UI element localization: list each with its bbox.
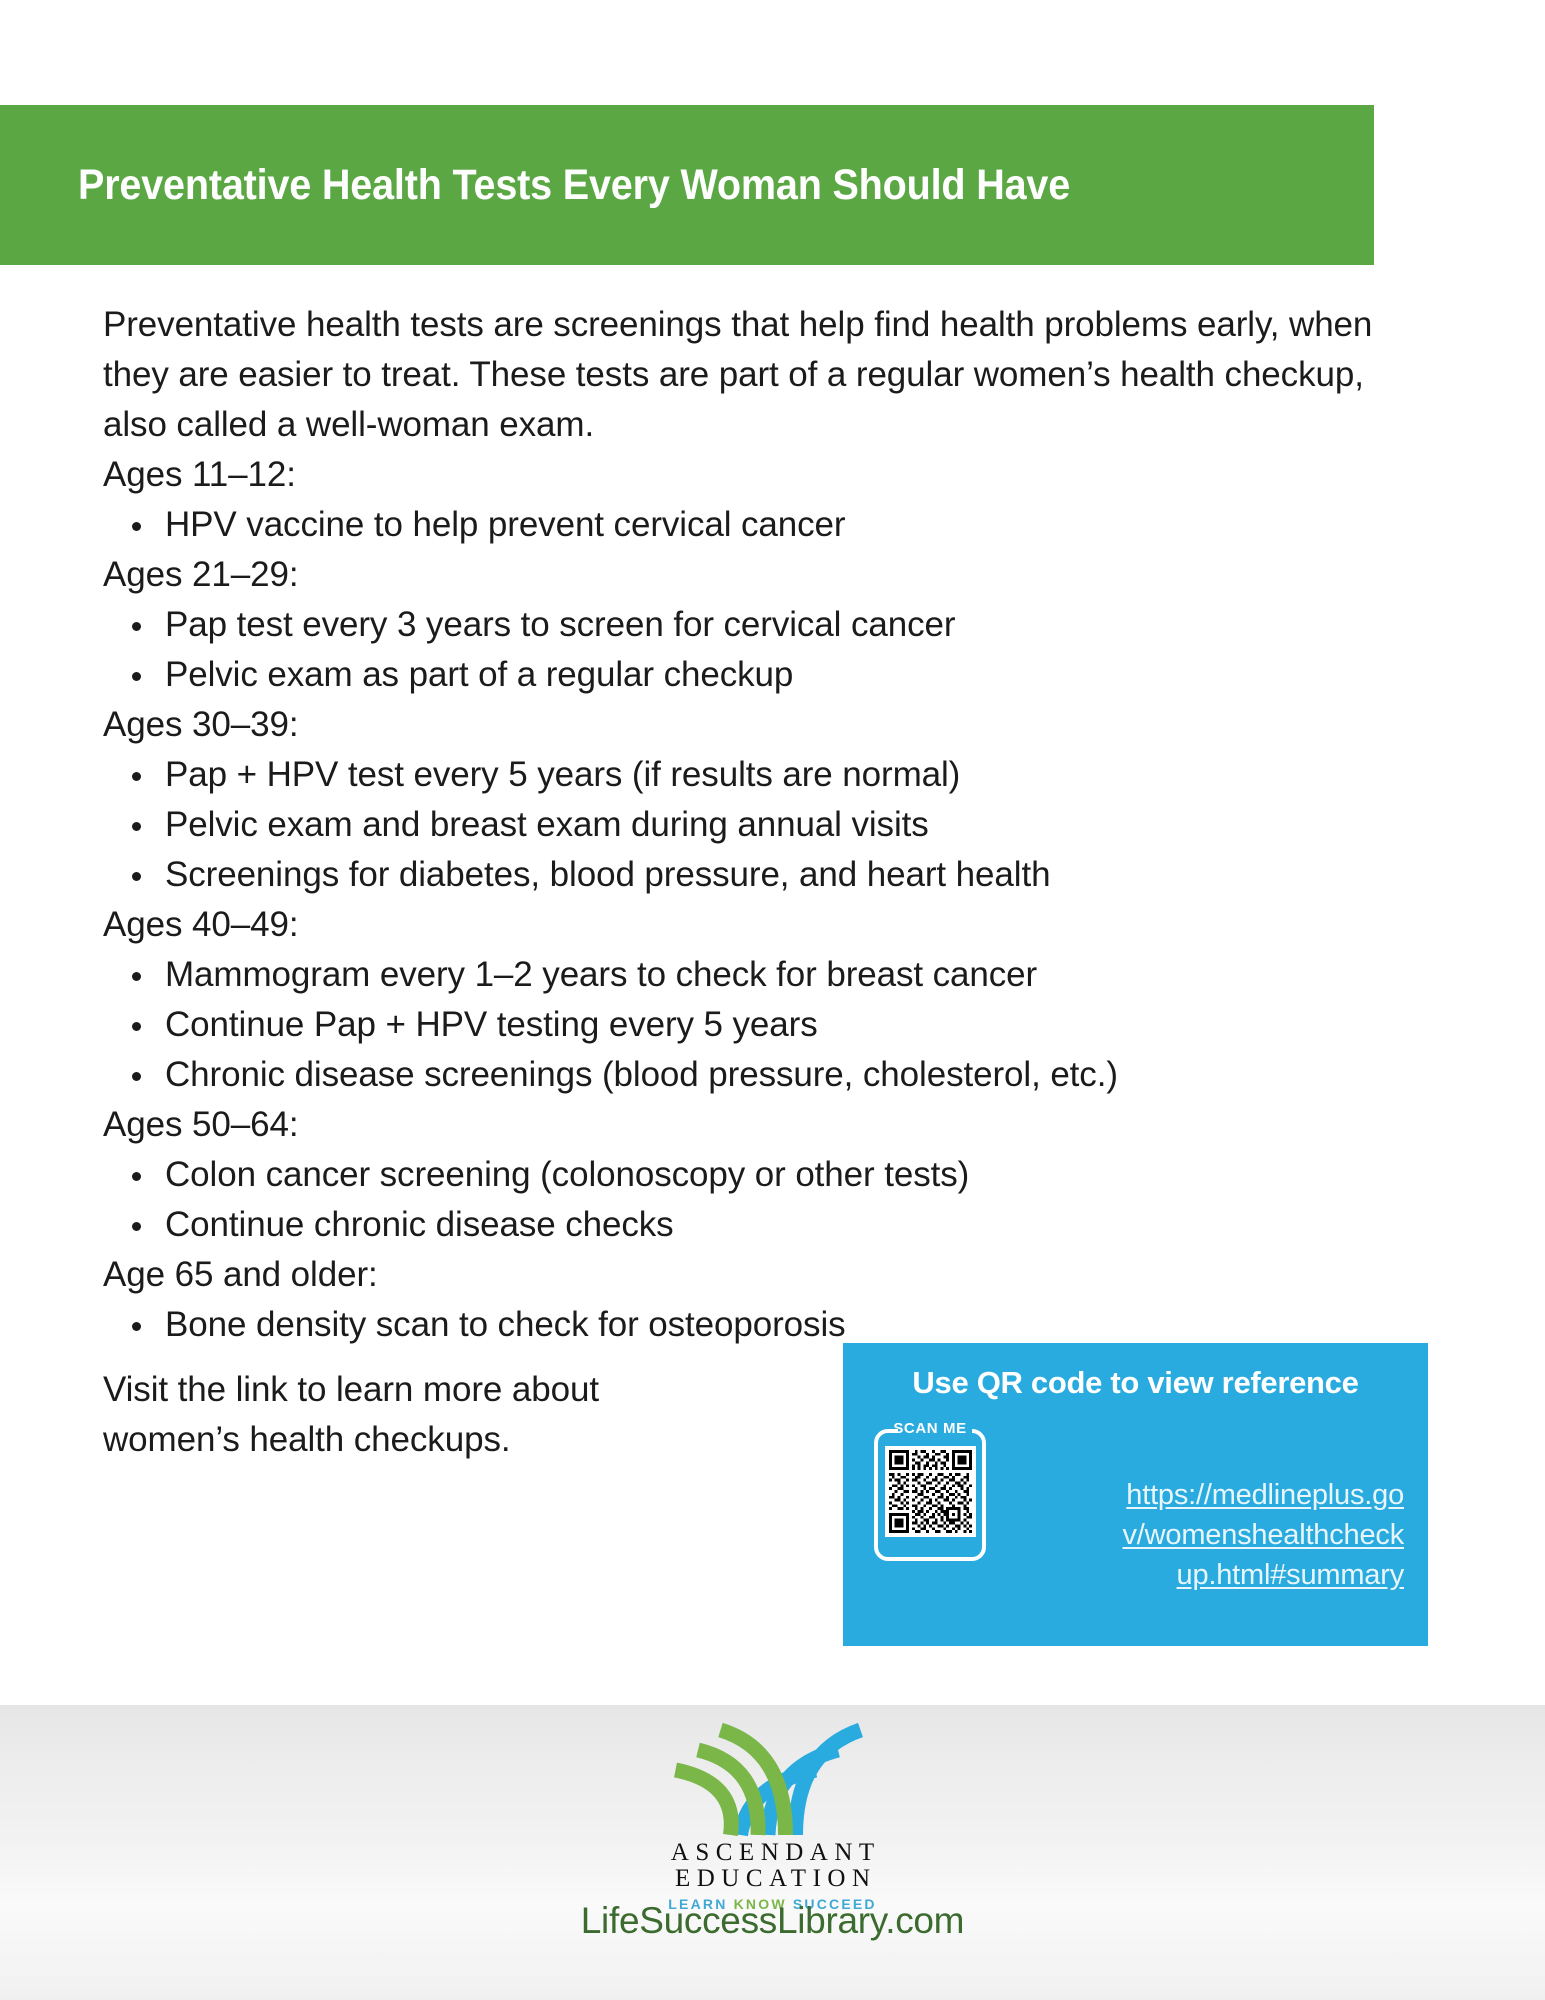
section-label: Ages 21–29:: [103, 550, 1393, 600]
page-title: Preventative Health Tests Every Woman Sh…: [78, 161, 1070, 210]
section-label: Age 65 and older:: [103, 1250, 1393, 1300]
url-line-3: up.html#summary: [1177, 1559, 1404, 1591]
list-item: HPV vaccine to help prevent cervical can…: [103, 500, 1393, 550]
qr-box-heading: Use QR code to view reference: [843, 1365, 1428, 1401]
list-item: Continue chronic disease checks: [103, 1200, 1393, 1250]
section-bullet-list: Pap test every 3 years to screen for cer…: [103, 600, 1393, 700]
logo-word-ascendant: ASCENDANT: [648, 1840, 898, 1866]
list-item: Pap + HPV test every 5 years (if results…: [103, 750, 1393, 800]
section-label: Ages 40–49:: [103, 900, 1393, 950]
age-section-4: Ages 50–64: Colon cancer screening (colo…: [103, 1100, 1393, 1250]
section-label: Ages 11–12:: [103, 450, 1393, 500]
list-item: Continue Pap + HPV testing every 5 years: [103, 1000, 1393, 1050]
document-page: Preventative Health Tests Every Woman Sh…: [0, 0, 1545, 2000]
qr-code-graphic[interactable]: SCAN ME: [867, 1420, 993, 1570]
page-footer: ASCENDANT EDUCATION LEARN KNOW SUCCEED L…: [0, 1705, 1545, 2000]
section-label: Ages 30–39:: [103, 700, 1393, 750]
visit-line-1: Visit the link to learn more about: [103, 1365, 783, 1415]
list-item: Chronic disease screenings (blood pressu…: [103, 1050, 1393, 1100]
section-bullet-list: Pap + HPV test every 5 years (if results…: [103, 750, 1393, 900]
url-line-1: https://medlineplus.go: [1126, 1479, 1404, 1511]
section-bullet-list: Colon cancer screening (colonoscopy or o…: [103, 1150, 1393, 1250]
age-section-0: Ages 11–12: HPV vaccine to help prevent …: [103, 450, 1393, 550]
reference-url-link[interactable]: https://medlineplus.go v/womenshealthche…: [1074, 1475, 1404, 1595]
list-item: Pap test every 3 years to screen for cer…: [103, 600, 1393, 650]
url-line-2: v/womenshealthcheck: [1122, 1519, 1404, 1551]
intro-paragraph: Preventative health tests are screenings…: [103, 300, 1393, 450]
section-bullet-list: Mammogram every 1–2 years to check for b…: [103, 950, 1393, 1100]
list-item: Pelvic exam as part of a regular checkup: [103, 650, 1393, 700]
qr-matrix: [889, 1450, 972, 1533]
qr-reference-box: Use QR code to view reference SCAN ME: [843, 1343, 1428, 1646]
age-section-5: Age 65 and older: Bone density scan to c…: [103, 1250, 1393, 1350]
list-item: Pelvic exam and breast exam during annua…: [103, 800, 1393, 850]
age-section-1: Ages 21–29: Pap test every 3 years to sc…: [103, 550, 1393, 700]
age-section-2: Ages 30–39: Pap + HPV test every 5 years…: [103, 700, 1393, 900]
section-bullet-list: HPV vaccine to help prevent cervical can…: [103, 500, 1393, 550]
list-item: Screenings for diabetes, blood pressure,…: [103, 850, 1393, 900]
logo-word-education: EDUCATION: [648, 1866, 898, 1892]
brand-logo: ASCENDANT EDUCATION LEARN KNOW SUCCEED: [648, 1715, 898, 1914]
list-item: Mammogram every 1–2 years to check for b…: [103, 950, 1393, 1000]
qr-code-icon[interactable]: [885, 1446, 976, 1537]
body-content: Preventative health tests are screenings…: [103, 300, 1393, 1350]
page-header-bar: Preventative Health Tests Every Woman Sh…: [0, 105, 1374, 265]
age-section-3: Ages 40–49: Mammogram every 1–2 years to…: [103, 900, 1393, 1100]
visit-line-2: women’s health checkups.: [103, 1415, 783, 1465]
scan-me-label: SCAN ME: [867, 1420, 993, 1437]
ascendant-fan-logo-icon: [648, 1715, 898, 1840]
visit-link-paragraph: Visit the link to learn more about women…: [103, 1365, 783, 1465]
site-url-footer[interactable]: LifeSuccessLibrary.com: [0, 1900, 1545, 1942]
list-item: Colon cancer screening (colonoscopy or o…: [103, 1150, 1393, 1200]
section-label: Ages 50–64:: [103, 1100, 1393, 1150]
